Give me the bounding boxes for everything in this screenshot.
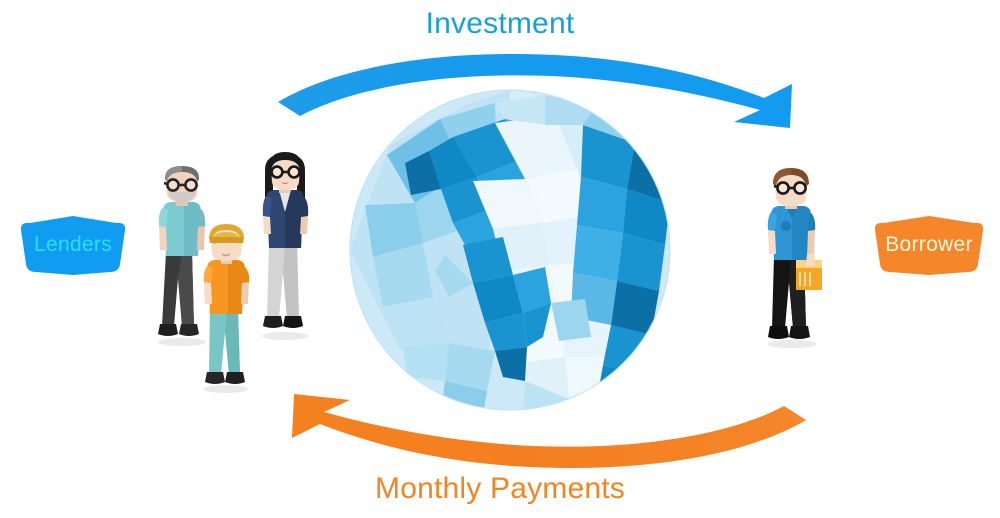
borrower-badge[interactable]: Borrower (866, 212, 992, 278)
lender-woman-figure (252, 152, 318, 342)
lenders-badge[interactable]: Lenders (12, 212, 134, 278)
lenders-badge-label: Lenders (34, 233, 112, 257)
diagram-canvas: Investment (0, 0, 1000, 518)
monthly-payments-flow-label: Monthly Payments (0, 472, 1000, 506)
investment-flow-label: Investment (0, 7, 1000, 41)
borrower-badge-label: Borrower (885, 233, 973, 257)
borrower-figure (756, 168, 834, 350)
monthly-payments-arrow (272, 380, 812, 472)
globe-illustration (345, 85, 675, 415)
lender-boy-figure (196, 224, 258, 394)
